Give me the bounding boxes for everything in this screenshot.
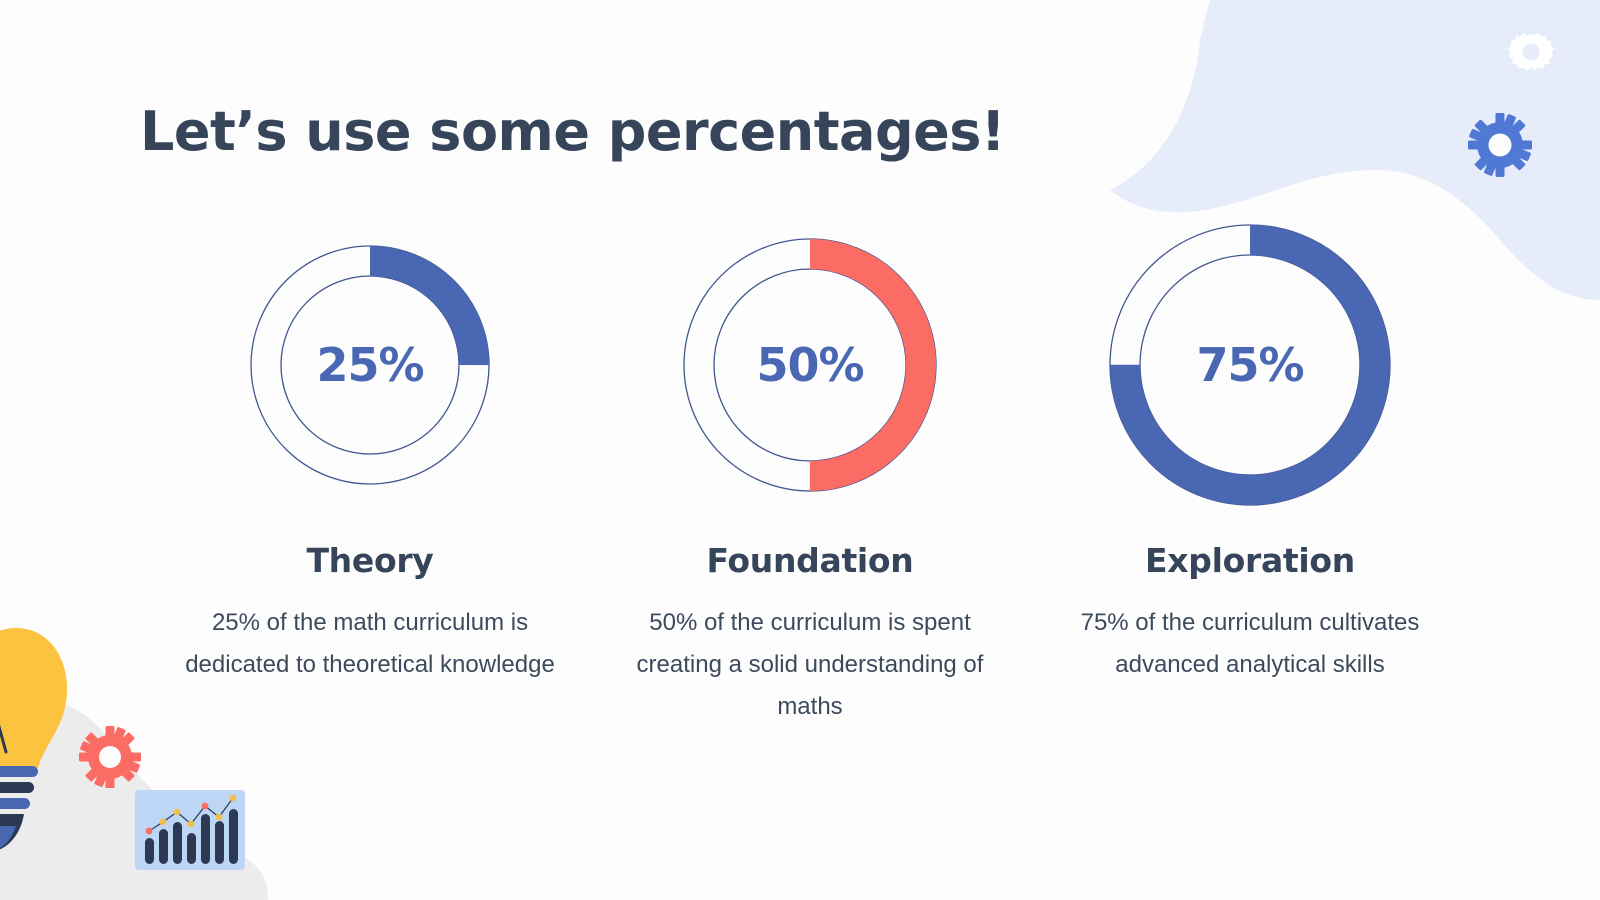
lightbulb-icon bbox=[0, 628, 67, 852]
white-gear-icon bbox=[1508, 33, 1554, 71]
percentage-column-theory: 25% Theory 25% of the math curriculum is… bbox=[150, 215, 590, 686]
donut-percentage-label: 25% bbox=[220, 338, 520, 392]
coral-gear-icon bbox=[79, 726, 141, 788]
column-description: 50% of the curriculum is spent creating … bbox=[610, 602, 1010, 728]
percentage-column-foundation: 50% Foundation 50% of the curriculum is … bbox=[590, 215, 1030, 728]
percentage-column-exploration: 75% Exploration 75% of the curriculum cu… bbox=[1030, 215, 1470, 686]
donut-chart-theory: 25% bbox=[220, 215, 520, 515]
column-description: 25% of the math curriculum is dedicated … bbox=[170, 602, 570, 686]
donut-chart-exploration: 75% bbox=[1100, 215, 1400, 515]
blue-gear-icon bbox=[1468, 113, 1532, 177]
column-heading: Theory bbox=[306, 541, 433, 580]
percentage-columns: 25% Theory 25% of the math curriculum is… bbox=[150, 215, 1470, 728]
column-heading: Foundation bbox=[706, 541, 913, 580]
donut-percentage-label: 75% bbox=[1100, 338, 1400, 392]
column-heading: Exploration bbox=[1145, 541, 1355, 580]
column-description: 75% of the curriculum cultivates advance… bbox=[1050, 602, 1450, 686]
bar-chart-icon bbox=[135, 790, 245, 870]
donut-chart-foundation: 50% bbox=[660, 215, 960, 515]
donut-percentage-label: 50% bbox=[660, 338, 960, 392]
page-title: Let’s use some percentages! bbox=[140, 100, 1005, 163]
